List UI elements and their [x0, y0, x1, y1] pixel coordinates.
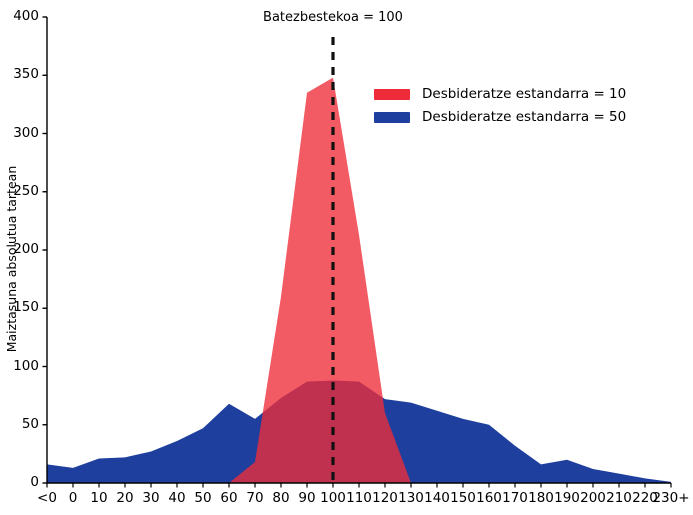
area-series-sd10: [47, 78, 671, 483]
chart-plot-area: [0, 0, 693, 512]
x-tick-label: 230+: [651, 490, 691, 506]
legend-item-sd50[interactable]: Desbideratze estandarra = 50: [374, 109, 626, 125]
chart-figure: 050100150200250300350400 <00102030405060…: [0, 0, 693, 512]
legend-swatch-red: [374, 89, 410, 100]
legend-label-sd10: Desbideratze estandarra = 10: [422, 86, 626, 102]
legend-swatch-blue: [374, 112, 410, 123]
series-areas: [47, 78, 671, 483]
legend-item-sd10[interactable]: Desbideratze estandarra = 10: [374, 86, 626, 102]
chart-legend: Desbideratze estandarra = 10 Desbideratz…: [374, 86, 626, 125]
y-axis-title: Maiztasuna absolutua tartean: [2, 3, 22, 515]
mean-annotation-label: Batezbestekoa = 100: [218, 10, 448, 25]
legend-label-sd50: Desbideratze estandarra = 50: [422, 109, 626, 125]
